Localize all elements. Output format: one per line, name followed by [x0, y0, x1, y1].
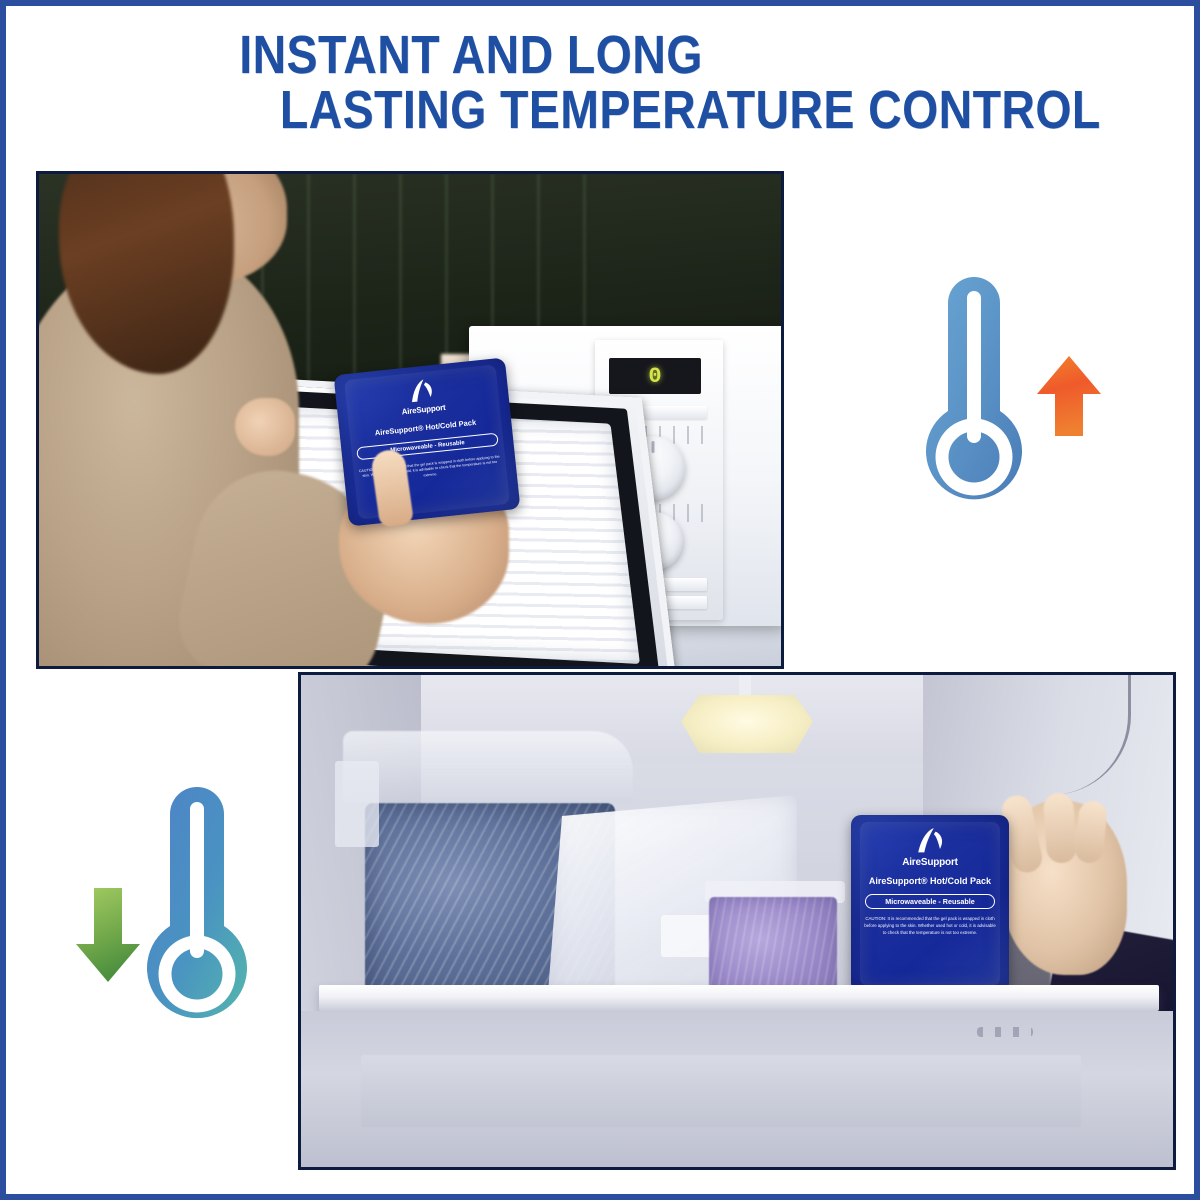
- microwave-scene: 0: [39, 174, 781, 666]
- gel-pack: AireSupport AireSupport® Hot/Cold Pack M…: [334, 357, 521, 526]
- headline-line-2: LASTING TEMPERATURE CONTROL: [89, 83, 1111, 138]
- gel-pack: AireSupport AireSupport® Hot/Cold Pack M…: [851, 815, 1009, 993]
- freezer-scene: AireSupport AireSupport® Hot/Cold Pack M…: [301, 675, 1173, 1167]
- knob-indicator-line: [652, 441, 655, 453]
- freezer-floor-panel: [361, 1055, 1081, 1127]
- freezer-vent-holes: [977, 1027, 1033, 1037]
- gel-pack-on-shelf: AireSupport AireSupport® Hot/Cold Pack M…: [851, 815, 1009, 993]
- frozen-food-bag-blue-label: [335, 761, 379, 847]
- gel-pack-caution: CAUTION: It is recommended that the gel …: [862, 916, 998, 936]
- microwave-display-value: 0: [648, 364, 661, 389]
- gel-pack-held: AireSupport AireSupport® Hot/Cold Pack M…: [334, 357, 521, 526]
- freezer-cord: [861, 675, 1131, 795]
- freezer-interior-light: [681, 695, 813, 753]
- photo-freezer-cooling: AireSupport AireSupport® Hot/Cold Pack M…: [298, 672, 1176, 1170]
- page-title: INSTANT AND LONG LASTING TEMPERATURE CON…: [6, 28, 1194, 138]
- airesupport-logo-icon: [401, 376, 441, 406]
- photo-microwave-heating: 0: [36, 171, 784, 669]
- gel-pack-badge: Microwaveable - Reusable: [865, 894, 995, 908]
- gel-pack-brand: AireSupport: [851, 858, 1009, 868]
- heat-up-indicator: [896, 261, 1106, 526]
- arrow-down-icon: [76, 888, 140, 982]
- product-poster: INSTANT AND LONG LASTING TEMPERATURE CON…: [0, 0, 1200, 1200]
- microwave-display: 0: [609, 358, 701, 394]
- finger-middle: [1043, 792, 1078, 864]
- arrow-up-icon: [1037, 356, 1101, 436]
- cool-down-indicator: [58, 774, 283, 1049]
- airesupport-logo-icon: [913, 826, 948, 856]
- gel-pack-title: AireSupport® Hot/Cold Pack: [851, 877, 1009, 886]
- gel-pack-title: AireSupport® Hot/Cold Pack: [340, 415, 512, 440]
- frozen-food-bag-blue-wrapper: [343, 731, 633, 803]
- woman-hand-on-door: [235, 398, 295, 456]
- headline-line-1: INSTANT AND LONG: [89, 28, 1111, 83]
- thermometer-stem: [190, 802, 204, 958]
- freezer-shelf: [319, 985, 1159, 1011]
